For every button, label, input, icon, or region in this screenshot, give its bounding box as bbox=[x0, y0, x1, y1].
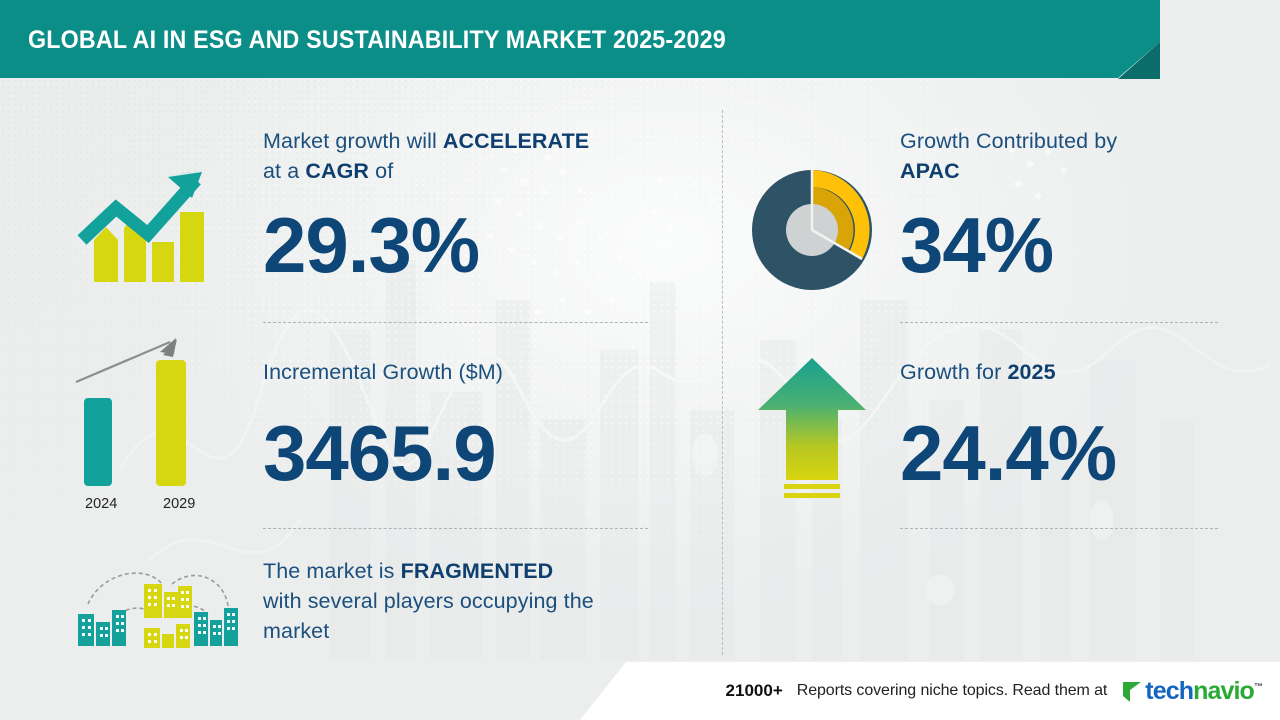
incremental-growth-value: 3465.9 bbox=[263, 412, 496, 494]
right-divider-2 bbox=[900, 528, 1218, 529]
right-divider-1 bbox=[900, 322, 1218, 323]
up-arrow-icon bbox=[754, 352, 874, 508]
logo-text-tech: tech bbox=[1145, 677, 1193, 705]
cagr-line2-suffix: of bbox=[369, 159, 393, 183]
city-network-icon bbox=[74, 556, 240, 648]
apac-label: Growth Contributed by APAC bbox=[900, 126, 1230, 186]
footer: 21000+ Reports covering niche topics. Re… bbox=[0, 662, 1280, 720]
page-title: GLOBAL AI IN ESG AND SUSTAINABILITY MARK… bbox=[28, 26, 726, 55]
fragmented-line1-strong: FRAGMENTED bbox=[401, 559, 554, 583]
cagr-line2-prefix: at a bbox=[263, 159, 305, 183]
growth2025-line1-strong: 2025 bbox=[1007, 360, 1055, 384]
cagr-value: 29.3% bbox=[263, 204, 479, 286]
fragmented-line2: with several players occupying the bbox=[263, 586, 693, 616]
content-area: Market growth will ACCELERATE at a CAGR … bbox=[0, 0, 1280, 720]
bar-label-2029: 2029 bbox=[163, 496, 195, 512]
growth-arrow-bars-icon bbox=[68, 150, 228, 300]
fragmented-line3: market bbox=[263, 616, 693, 646]
fragmentation-label: The market is FRAGMENTED with several pl… bbox=[263, 556, 693, 646]
bar-label-2024: 2024 bbox=[85, 496, 117, 512]
cagr-label: Market growth will ACCELERATE at a CAGR … bbox=[263, 126, 663, 186]
fragmented-line1-prefix: The market is bbox=[263, 559, 401, 583]
cagr-line2-strong: CAGR bbox=[305, 159, 369, 183]
logo-text-navio: navio bbox=[1193, 677, 1254, 705]
technavio-arrow-icon bbox=[1121, 678, 1143, 704]
left-divider-2 bbox=[263, 528, 648, 529]
incremental-growth-label: Incremental Growth ($M) bbox=[263, 357, 503, 387]
two-bar-comparison-icon bbox=[70, 336, 230, 516]
growth2025-label: Growth for 2025 bbox=[900, 357, 1056, 387]
donut-chart-icon bbox=[748, 166, 876, 294]
logo-trademark: ™ bbox=[1254, 681, 1262, 691]
column-divider bbox=[722, 110, 723, 655]
footer-tagline: Reports covering niche topics. Read them… bbox=[797, 682, 1108, 700]
growth2025-value: 24.4% bbox=[900, 412, 1116, 494]
left-divider-1 bbox=[263, 322, 648, 323]
technavio-logo[interactable]: technavio™ bbox=[1121, 677, 1262, 706]
growth2025-line1-prefix: Growth for bbox=[900, 360, 1007, 384]
apac-value: 34% bbox=[900, 204, 1053, 286]
apac-line1: Growth Contributed by bbox=[900, 126, 1230, 156]
apac-line2-strong: APAC bbox=[900, 159, 960, 183]
cagr-line1-strong: ACCELERATE bbox=[443, 129, 589, 153]
reports-count: 21000+ bbox=[726, 681, 783, 701]
cagr-line1-prefix: Market growth will bbox=[263, 129, 443, 153]
